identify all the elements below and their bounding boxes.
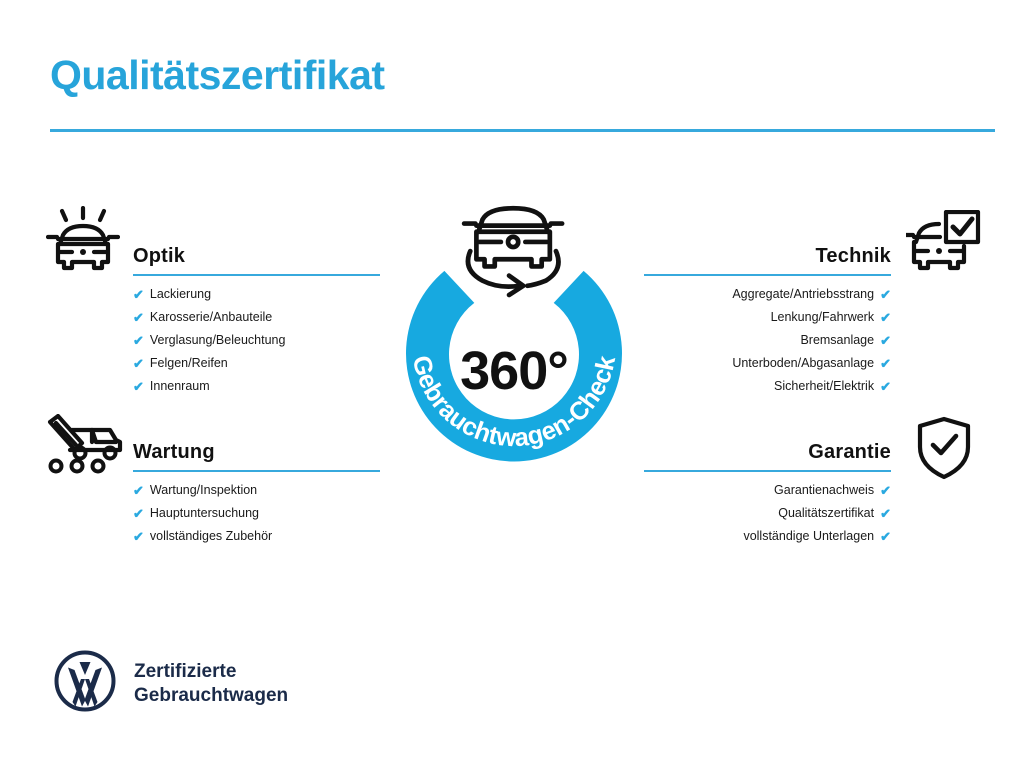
checklist-optik: ✔Lackierung✔Karosserie/Anbauteile✔Vergla… xyxy=(133,283,380,398)
volkswagen-logo xyxy=(54,650,116,717)
check-icon: ✔ xyxy=(133,306,144,329)
checklist-item: ✔Bremsanlage xyxy=(644,329,891,352)
checklist-item: ✔vollständiges Zubehör xyxy=(133,525,380,548)
section-divider-wartung xyxy=(133,470,380,472)
checklist-item: ✔Qualitätszertifikat xyxy=(644,502,891,525)
section-technik: Technik✔Aggregate/Antriebsstrang✔Lenkung… xyxy=(644,236,891,398)
check-icon: ✔ xyxy=(880,375,891,398)
checklist-garantie: ✔Garantienachweis✔Qualitätszertifikat✔vo… xyxy=(644,479,891,548)
check-icon: ✔ xyxy=(133,525,144,548)
badge-360-gebrauchtwagen-check: Gebrauchtwagen-Check xyxy=(372,192,656,492)
check-icon: ✔ xyxy=(880,329,891,352)
check-icon: ✔ xyxy=(133,502,144,525)
section-title-optik: Optik xyxy=(133,245,185,268)
checklist-item: ✔Innenraum xyxy=(133,375,380,398)
check-icon: ✔ xyxy=(880,306,891,329)
check-icon: ✔ xyxy=(133,329,144,352)
checklist-item: ✔Wartung/Inspektion xyxy=(133,479,380,502)
section-title-wartung: Wartung xyxy=(133,441,215,464)
header-divider xyxy=(50,129,995,132)
checklist-item-label: vollständiges Zubehör xyxy=(150,525,272,548)
checklist-item-label: Hauptuntersuchung xyxy=(150,502,259,525)
section-optik: Optik✔Lackierung✔Karosserie/Anbauteile✔V… xyxy=(133,236,380,398)
checklist-item-label: Sicherheit/Elektrik xyxy=(774,375,874,398)
check-icon: ✔ xyxy=(133,375,144,398)
checklist-item-label: Verglasung/Beleuchtung xyxy=(150,329,286,352)
brand-line-1: Zertifizierte xyxy=(134,660,288,684)
checklist-item: ✔Karosserie/Anbauteile xyxy=(133,306,380,329)
badge-center-label: 360° xyxy=(372,340,656,402)
section-title-technik: Technik xyxy=(816,245,892,268)
checklist-item-label: Karosserie/Anbauteile xyxy=(150,306,272,329)
page-title: Qualitätszertifikat xyxy=(50,52,385,99)
checklist-item-label: vollständige Unterlagen xyxy=(743,525,874,548)
car-front-sparkle-icon xyxy=(46,206,120,281)
checklist-item: ✔Verglasung/Beleuchtung xyxy=(133,329,380,352)
wrench-car-icon xyxy=(46,414,126,481)
section-title-garantie: Garantie xyxy=(808,441,891,464)
check-icon: ✔ xyxy=(880,479,891,502)
check-icon: ✔ xyxy=(880,283,891,306)
checklist-item: ✔vollständige Unterlagen xyxy=(644,525,891,548)
section-divider-garantie xyxy=(644,470,891,472)
checklist-item: ✔Lackierung xyxy=(133,283,380,306)
check-icon: ✔ xyxy=(880,525,891,548)
check-icon: ✔ xyxy=(133,352,144,375)
car-checkbox-icon xyxy=(906,210,982,279)
checklist-item: ✔Hauptuntersuchung xyxy=(133,502,380,525)
checklist-item-label: Lackierung xyxy=(150,283,211,306)
section-garantie: Garantie✔Garantienachweis✔Qualitätszerti… xyxy=(644,432,891,548)
checklist-item: ✔Unterboden/Abgasanlage xyxy=(644,352,891,375)
checklist-item: ✔Felgen/Reifen xyxy=(133,352,380,375)
checklist-wartung: ✔Wartung/Inspektion✔Hauptuntersuchung✔vo… xyxy=(133,479,380,548)
checklist-item: ✔Garantienachweis xyxy=(644,479,891,502)
section-wartung: Wartung✔Wartung/Inspektion✔Hauptuntersuc… xyxy=(133,432,380,548)
checklist-item-label: Felgen/Reifen xyxy=(150,352,228,375)
checklist-technik: ✔Aggregate/Antriebsstrang✔Lenkung/Fahrwe… xyxy=(644,283,891,398)
checklist-item: ✔Aggregate/Antriebsstrang xyxy=(644,283,891,306)
checklist-item-label: Innenraum xyxy=(150,375,210,398)
checklist-item-label: Unterboden/Abgasanlage xyxy=(732,352,874,375)
section-divider-technik xyxy=(644,274,891,276)
checklist-item: ✔Sicherheit/Elektrik xyxy=(644,375,891,398)
checklist-item-label: Garantienachweis xyxy=(774,479,874,502)
brand-lockup: Zertifizierte Gebrauchtwagen xyxy=(54,650,288,717)
check-icon: ✔ xyxy=(880,352,891,375)
checklist-item-label: Aggregate/Antriebsstrang xyxy=(732,283,874,306)
check-icon: ✔ xyxy=(133,479,144,502)
checklist-item: ✔Lenkung/Fahrwerk xyxy=(644,306,891,329)
section-divider-optik xyxy=(133,274,380,276)
brand-line-2: Gebrauchtwagen xyxy=(134,684,288,708)
checklist-item-label: Lenkung/Fahrwerk xyxy=(771,306,875,329)
checklist-item-label: Wartung/Inspektion xyxy=(150,479,257,502)
certificate-page: Qualitätszertifikat xyxy=(0,0,1024,768)
check-icon: ✔ xyxy=(133,283,144,306)
checklist-item-label: Qualitätszertifikat xyxy=(778,502,874,525)
shield-check-icon xyxy=(916,416,972,485)
check-icon: ✔ xyxy=(880,502,891,525)
checklist-item-label: Bremsanlage xyxy=(800,329,874,352)
